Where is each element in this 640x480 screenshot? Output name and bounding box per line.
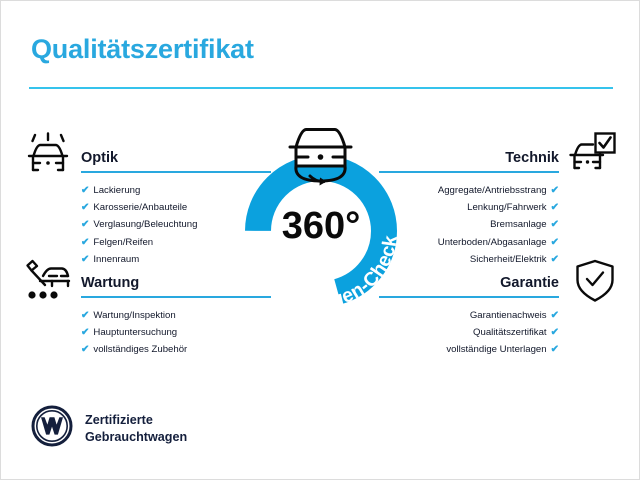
qualitaetszertifikat-page: Qualitätszertifikat <box>0 0 640 480</box>
section-wartung-title: Wartung <box>81 275 139 291</box>
list-item-label: vollständiges Zubehör <box>93 341 187 358</box>
list-item-label: Wartung/Inspektion <box>93 307 175 324</box>
list-item-label: Lackierung <box>93 182 140 199</box>
list-item: ✔vollständiges Zubehör <box>81 341 271 358</box>
list-item-label: Unterboden/Abgasanlage <box>438 234 547 251</box>
list-item-label: Garantienachweis <box>470 307 547 324</box>
footer-text: Zertifizierte Gebrauchtwagen <box>85 412 187 445</box>
check-icon: ✔ <box>551 307 559 324</box>
list-item-label: Qualitätszertifikat <box>473 324 547 341</box>
list-item-label: Verglasung/Beleuchtung <box>93 216 197 233</box>
title-divider <box>29 87 613 89</box>
check-icon: ✔ <box>551 199 559 216</box>
car-front-sparkle-icon <box>23 132 73 181</box>
check-icon: ✔ <box>81 182 89 199</box>
list-item-label: Bremsanlage <box>490 216 547 233</box>
check-icon: ✔ <box>81 216 89 233</box>
list-item-label: Karosserie/Anbauteile <box>93 199 187 216</box>
check-icon: ✔ <box>551 216 559 233</box>
section-optik-title: Optik <box>81 150 118 166</box>
page-title: Qualitätszertifikat <box>31 34 254 65</box>
footer-brand: Zertifizierte Gebrauchtwagen <box>31 405 187 452</box>
footer-line-1: Zertifizierte <box>85 412 187 429</box>
section-garantie-title: Garantie <box>500 275 559 291</box>
wrench-car-service-icon <box>23 258 73 309</box>
check-icon: ✔ <box>81 324 89 341</box>
list-item-label: Felgen/Reifen <box>93 234 153 251</box>
list-item-label: Innenraum <box>93 251 139 268</box>
check-icon: ✔ <box>81 307 89 324</box>
list-item: vollständige Unterlagen✔ <box>379 341 559 358</box>
list-item-label: Hauptuntersuchung <box>93 324 177 341</box>
check-icon: ✔ <box>551 341 559 358</box>
check-icon: ✔ <box>551 251 559 268</box>
section-technik-title: Technik <box>505 150 559 166</box>
check-icon: ✔ <box>81 341 89 358</box>
list-item: ✔Hauptuntersuchung <box>81 324 271 341</box>
check-icon: ✔ <box>551 324 559 341</box>
vw-logo-icon <box>31 405 73 452</box>
check-icon: ✔ <box>81 199 89 216</box>
check-icon: ✔ <box>551 182 559 199</box>
badge-360-gebrauchtwagen-check: Gebrauchtwagen-Check 360° <box>223 113 419 323</box>
shield-check-icon <box>573 258 617 309</box>
list-item-label: Sicherheit/Elektrik <box>470 251 547 268</box>
car-front-checkbox-icon <box>567 131 617 182</box>
badge-degrees-label: 360° <box>282 205 361 247</box>
list-item-label: Aggregate/Antriebsstrang <box>438 182 547 199</box>
check-icon: ✔ <box>81 234 89 251</box>
list-item: Qualitätszertifikat✔ <box>379 324 559 341</box>
list-item-label: vollständige Unterlagen <box>446 341 546 358</box>
list-item-label: Lenkung/Fahrwerk <box>467 199 546 216</box>
check-icon: ✔ <box>551 234 559 251</box>
footer-line-2: Gebrauchtwagen <box>85 429 187 446</box>
check-icon: ✔ <box>81 251 89 268</box>
